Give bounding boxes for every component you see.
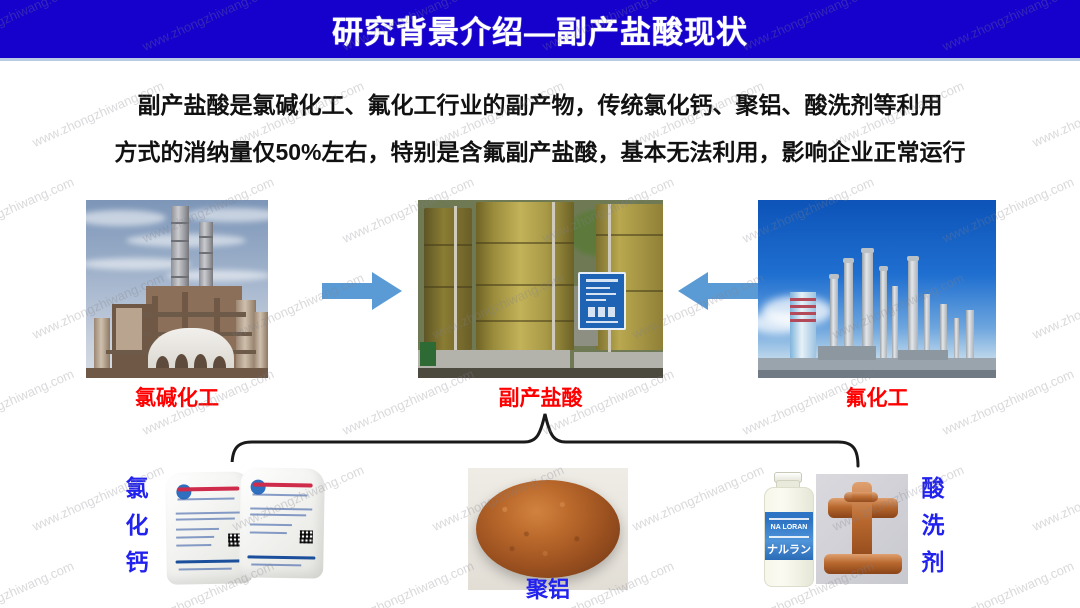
vertical-label-char: 洗 (916, 507, 950, 544)
vertical-label-char: 氯 (120, 470, 154, 507)
body-line-2: 方式的消纳量仅50%左右，特别是含氟副产盐酸，基本无法利用，影响企业正常运行 (58, 129, 1022, 176)
watermark-text: www.zhongzhiwang.com (1030, 462, 1080, 534)
hydrochloric-acid-storage-tanks-photo (418, 200, 663, 378)
pickling-agent-bottle-and-copper-fitting-photo: NA LORAN ナルラン (748, 468, 910, 590)
calcium-chloride-bags-photo (152, 462, 332, 590)
page-title: 研究背景介绍—副产盐酸现状 (0, 0, 1080, 58)
bottle-brand-jp-text: ナルラン (765, 541, 813, 557)
vertical-label-char: 剂 (916, 544, 950, 581)
watermark-text: www.zhongzhiwang.com (940, 558, 1076, 608)
safety-sign-icon (578, 272, 626, 330)
slide-canvas: 研究背景介绍—副产盐酸现状 副产盐酸是氯碱化工、氟化工行业的副产物，传统氯化钙、… (0, 0, 1080, 608)
product-label-calcium-chloride-text: 氯化钙 (120, 470, 154, 581)
watermark-text: www.zhongzhiwang.com (340, 558, 476, 608)
vertical-label-char: 化 (120, 507, 154, 544)
vertical-label-char: 酸 (916, 470, 950, 507)
watermark-text: www.zhongzhiwang.com (0, 558, 76, 608)
watermark-text: www.zhongzhiwang.com (1030, 78, 1080, 150)
watermark-text: www.zhongzhiwang.com (1030, 270, 1080, 342)
fluorine-chemical-plant-photo (758, 200, 996, 378)
bottle-brand-latin-text: NA LORAN (765, 524, 813, 531)
product-label-pickling-agent-text: 酸洗剂 (916, 470, 950, 581)
curly-brace (120, 408, 960, 470)
watermark-text: www.zhongzhiwang.com (0, 174, 76, 246)
watermark-text: www.zhongzhiwang.com (630, 462, 766, 534)
body-line-1: 副产盐酸是氯碱化工、氟化工行业的副产物，传统氯化钙、聚铝、酸洗剂等利用 (138, 92, 943, 118)
vertical-label-char: 钙 (120, 544, 154, 581)
title-underline (0, 58, 1080, 61)
body-paragraph: 副产盐酸是氯碱化工、氟化工行业的副产物，传统氯化钙、聚铝、酸洗剂等利用 方式的消… (58, 82, 1022, 176)
product-label-calcium-chloride: 氯化钙 (120, 470, 154, 581)
arrow-right-to-mid (678, 270, 758, 312)
product-label-pickling-agent: 酸洗剂 (916, 470, 950, 581)
chlor-alkali-plant-photo (86, 200, 268, 378)
arrow-left-to-mid (322, 270, 402, 312)
product-label-polyaluminium: 聚铝 (468, 572, 628, 604)
